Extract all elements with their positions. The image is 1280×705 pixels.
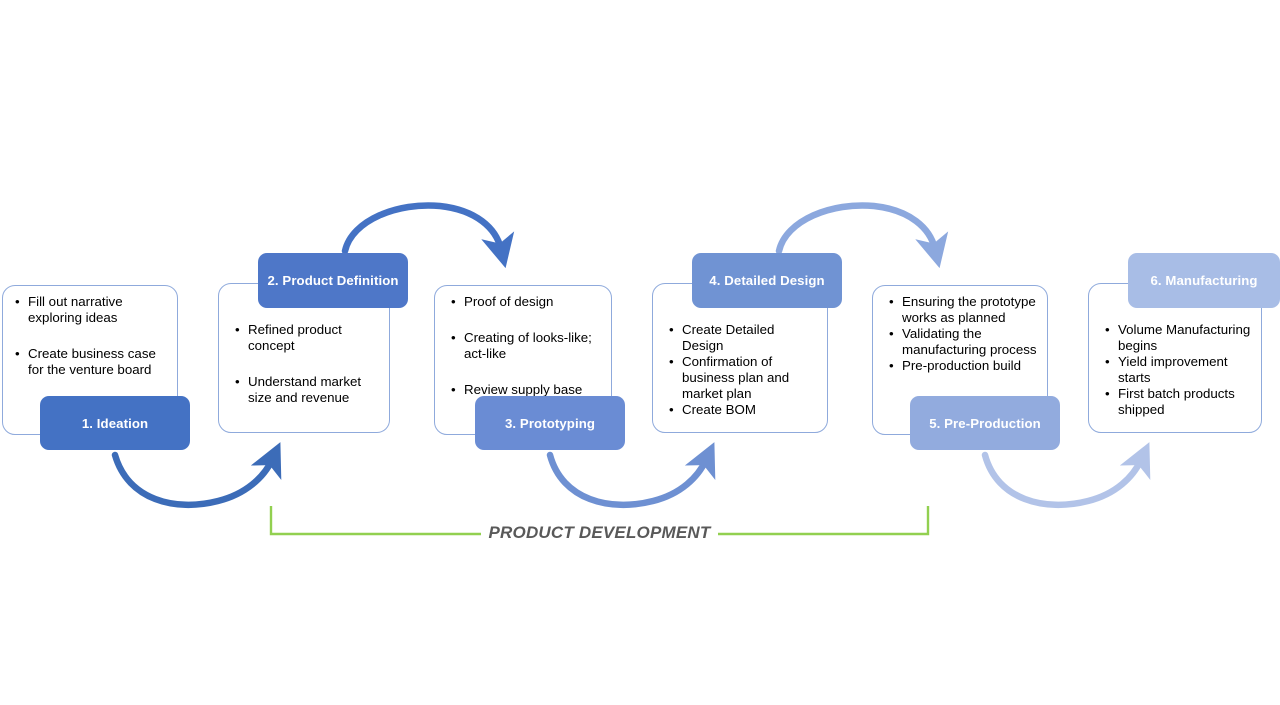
product-development-bracket <box>0 0 1280 705</box>
bracket-label: PRODUCT DEVELOPMENT <box>481 523 719 543</box>
product-development-diagram: Fill out narrative exploring ideas Creat… <box>0 0 1280 705</box>
